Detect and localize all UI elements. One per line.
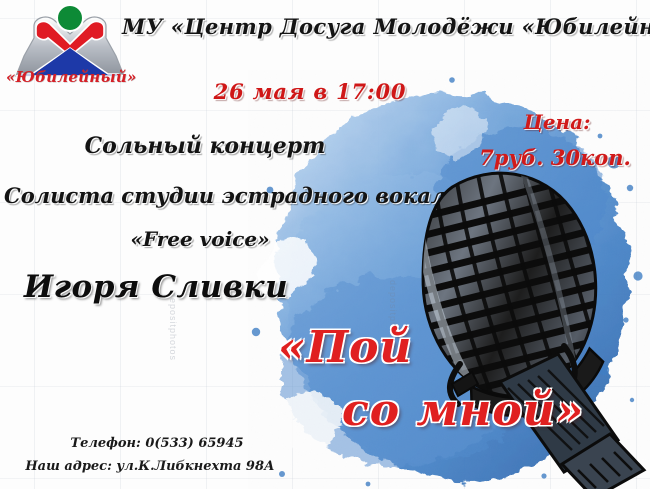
organization-title: МУ «Центр Досуга Молодёжи «Юбилейный» — [122, 14, 642, 39]
retro-microphone-icon — [382, 168, 650, 489]
concert-poster: depositphotos depositphotos «Юбилейный» … — [0, 0, 650, 489]
contact-address: Наш адрес: ул.К.Либкнехта 98А — [10, 459, 290, 474]
slogan-line-2: со мной» — [342, 385, 584, 436]
price-value: 7руб. 30коп. — [466, 145, 644, 170]
event-line-concert: Сольный концерт — [30, 133, 380, 159]
logo-caption: «Юбилейный» — [6, 68, 134, 86]
event-line-soloist: Солиста студии эстрадного вокала — [4, 183, 404, 208]
slogan-line-1: «Пой — [278, 322, 412, 373]
artist-name: Игоря Сливки — [6, 269, 306, 305]
event-line-studio-name: «Free voice» — [60, 227, 340, 251]
price-label: Цена: — [497, 110, 617, 134]
event-date-time: 26 мая в 17:00 — [150, 79, 470, 104]
contact-phone: Телефон: 0(533) 65945 — [26, 436, 288, 451]
